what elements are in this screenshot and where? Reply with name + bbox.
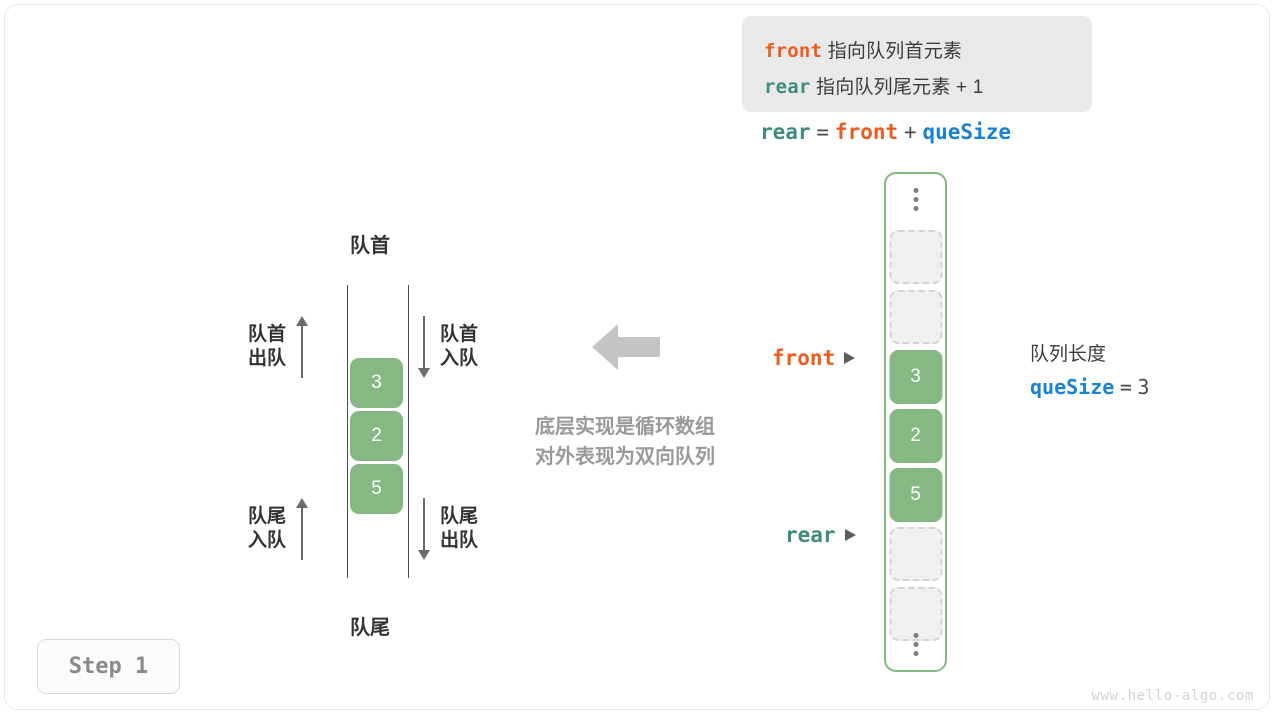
formula-lhs-rear: rear	[760, 120, 811, 144]
quesize-name: queSize	[1030, 375, 1114, 399]
quesize-equals: =	[1120, 375, 1132, 399]
deque-tail-label: 队尾	[350, 611, 390, 640]
pointer-front-label: front	[772, 346, 835, 370]
deque-cell-3: 3	[350, 358, 403, 408]
center-note: 底层实现是循环数组 对外表现为双向队列	[500, 412, 750, 473]
ellipsis-bottom-icon	[913, 633, 918, 656]
array-cell-empty-1	[889, 290, 942, 344]
op-head-push: 队首入队	[418, 316, 478, 378]
arrow-right-icon	[845, 529, 856, 541]
quesize-number: 3	[1137, 375, 1149, 399]
array-cell-empty-2	[889, 527, 942, 581]
array-cell-empty-0	[889, 230, 942, 284]
deque-rail-left	[347, 285, 348, 578]
op-head-push-label: 队首入队	[440, 323, 478, 370]
step-badge: Step 1	[37, 639, 180, 694]
array-cell-5: 5	[889, 468, 942, 522]
pointer-front: front	[772, 346, 855, 370]
pointer-rear: rear	[785, 523, 856, 547]
center-note-line-2: 对外表现为双向队列	[500, 442, 750, 472]
legend-box: front 指向队列首元素 rear 指向队列尾元素 + 1	[742, 16, 1092, 112]
deque-head-label: 队首	[350, 229, 390, 258]
center-note-line-1: 底层实现是循环数组	[500, 412, 750, 442]
arrow-right-icon	[844, 352, 855, 364]
deque-cell-2: 2	[350, 411, 403, 461]
op-head-pop-label: 队首出队	[248, 323, 286, 370]
deque-rail-right	[408, 285, 409, 578]
diagram-canvas: front 指向队列首元素 rear 指向队列尾元素 + 1 rear = fr…	[0, 0, 1280, 720]
legend-text-rear: 指向队列尾元素 + 1	[816, 77, 983, 98]
formula-rear-equals-front-plus-quesize: rear = front + queSize	[760, 120, 1011, 145]
arrow-left-icon	[592, 322, 660, 372]
quesize-expression: queSize = 3	[1030, 375, 1150, 400]
watermark: www.hello-algo.com	[1091, 688, 1254, 704]
arrow-up-icon	[296, 316, 308, 378]
op-tail-pop: 队尾出队	[418, 498, 478, 560]
quesize-note: 队列长度 queSize = 3	[1030, 339, 1150, 400]
formula-equals: =	[816, 120, 829, 144]
arrow-down-icon	[418, 498, 430, 560]
legend-line-rear: rear 指向队列尾元素 + 1	[764, 72, 983, 99]
formula-front: front	[835, 120, 898, 144]
legend-keyword-front: front	[764, 40, 822, 62]
legend-line-front: front 指向队列首元素	[764, 36, 962, 63]
legend-keyword-rear: rear	[764, 76, 811, 98]
arrow-up-icon	[296, 498, 308, 560]
quesize-title: 队列长度	[1030, 339, 1150, 366]
op-head-pop: 队首出队	[248, 316, 308, 378]
circular-array-container: 3 2 5	[884, 172, 947, 672]
ellipsis-top-icon	[913, 188, 918, 211]
op-tail-push: 队尾入队	[248, 498, 308, 560]
formula-quesize: queSize	[922, 120, 1011, 144]
op-tail-pop-label: 队尾出队	[440, 505, 478, 552]
op-tail-push-label: 队尾入队	[248, 505, 286, 552]
array-cell-2: 2	[889, 409, 942, 463]
arrow-down-icon	[418, 316, 430, 378]
array-cell-3: 3	[889, 350, 942, 404]
legend-text-front: 指向队列首元素	[828, 41, 962, 62]
deque-cell-5: 5	[350, 464, 403, 514]
formula-plus: +	[904, 120, 917, 144]
pointer-rear-label: rear	[785, 523, 836, 547]
